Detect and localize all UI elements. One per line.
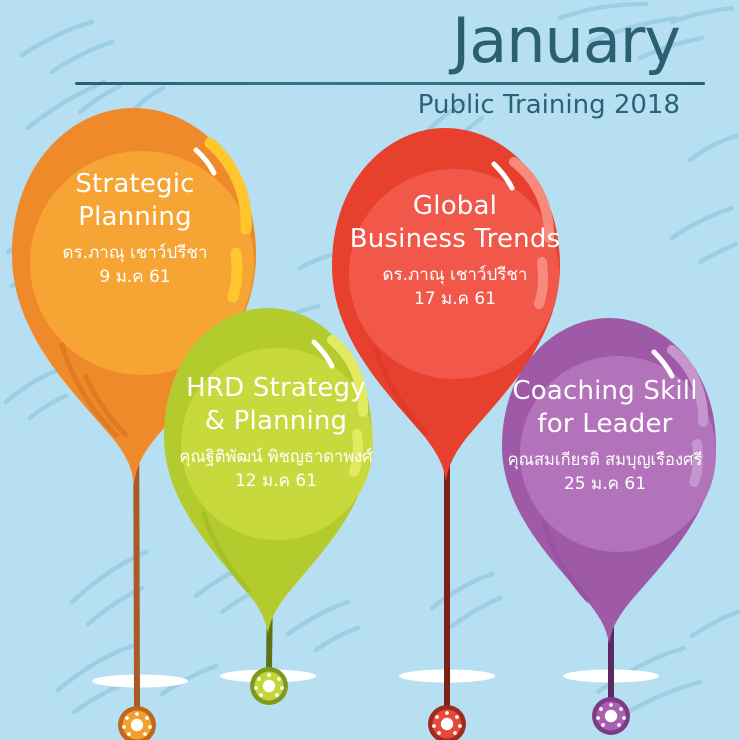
balloon-inner-sheen (520, 356, 716, 552)
burner-knot-icon (118, 706, 156, 740)
poster-canvas: January Public Training 2018 (0, 0, 740, 740)
balloon-inner-sheen (181, 348, 373, 540)
balloon-coaching[interactable] (482, 310, 740, 730)
burner-knot-icon (428, 705, 466, 740)
burner-knot-icon (250, 667, 288, 705)
header-divider (75, 82, 705, 85)
poster-header: January (40, 6, 680, 76)
page-title: January (40, 6, 680, 76)
burner-knot-icon (592, 697, 630, 735)
balloon-hrd[interactable] (148, 300, 408, 700)
